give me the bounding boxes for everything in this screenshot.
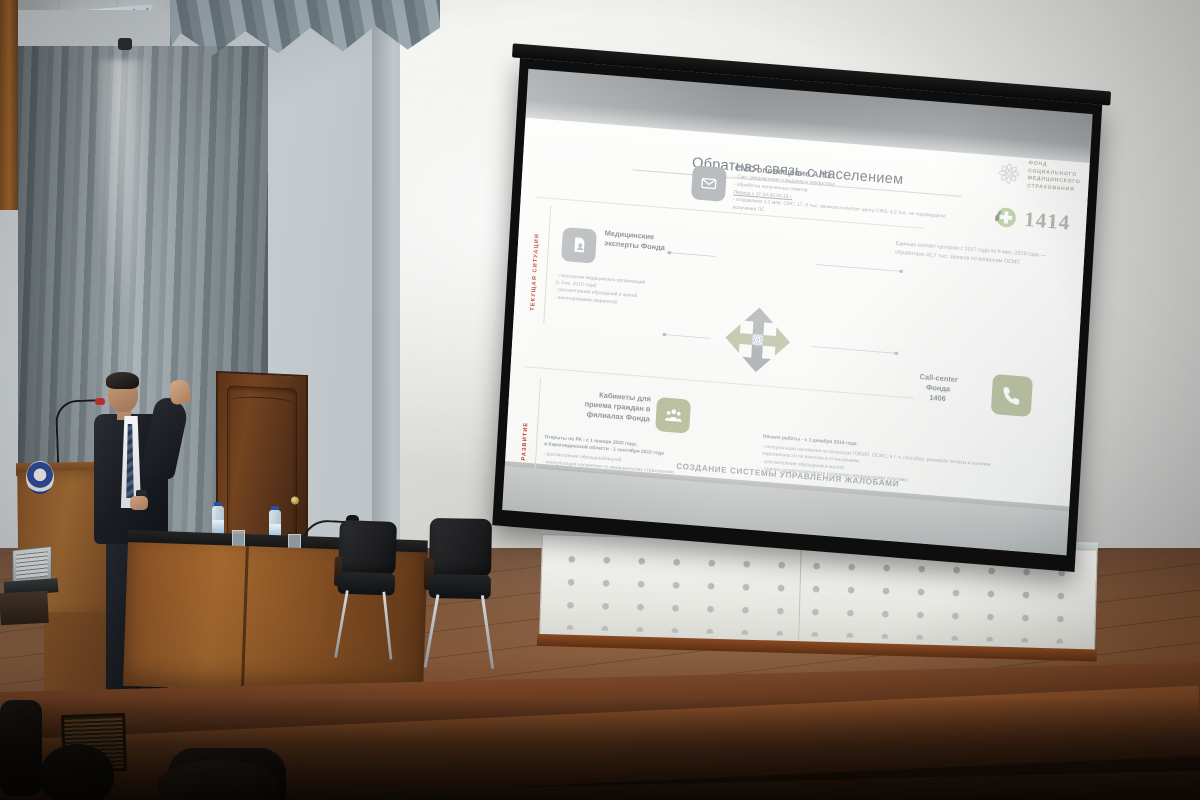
section-rule-current [543,205,551,323]
recycle-arrows-icon [710,291,805,388]
people-group-icon [655,397,691,434]
cabinets-heading: Кабинеты для приема граждан в филиалах Ф… [546,386,651,424]
chair-back [429,518,492,577]
door-panel [227,385,297,547]
presentation-slide: ФОНД СОЦИАЛЬНОГО МЕДИЦИНСКОГО СТРАХОВАНИ… [505,117,1090,507]
telephone-handset-icon [991,374,1033,417]
chair-back [338,520,397,575]
chair-legs [427,594,490,669]
presenter-raised-hand [168,379,191,406]
experts-block: Медицинские эксперты Фонда [604,228,725,258]
callcenter-block: Call-center Фонда 1406 [891,369,985,406]
podium-emblem-icon [26,461,54,494]
presenter-hand [130,496,148,510]
flower-logo-icon [994,159,1024,189]
experts-bullets: - посещение медицинских организаций (с 4… [555,272,721,315]
screen-surface: ФОНД СОЦИАЛЬНОГО МЕДИЦИНСКОГО СТРАХОВАНИ… [502,69,1093,556]
cabinets-block: Кабинеты для приема граждан в филиалах Ф… [546,386,651,424]
section-label-current: ТЕКУЩАЯ СИТУАЦИЯ [530,214,542,310]
envelope-icon [691,165,727,202]
wood-trim [0,0,18,210]
fund-logo: ФОНД СОЦИАЛЬНОГО МЕДИЦИНСКОГО СТРАХОВАНИ… [994,157,1082,195]
wall-spot-lamp [118,38,132,50]
wooden-door[interactable] [216,371,308,560]
presenter-raised-arm [140,395,190,480]
foreground-shadow [0,700,1200,800]
door-knob-icon[interactable] [291,496,299,504]
hotline-caption-block: Единым контакт-центром с 2017 года по 6 … [895,239,1071,271]
av-equipment-box [0,591,49,625]
table-panel-seam [241,546,249,690]
experts-heading: Медицинские эксперты Фонда [604,228,725,258]
conference-hall-photo: ФОНД СОЦИАЛЬНОГО МЕДИЦИНСКОГО СТРАХОВАНИ… [0,0,1200,800]
drinking-glass[interactable] [232,530,245,547]
wall-corner [372,0,394,560]
hotline-number: 1414 [1024,207,1071,236]
bottle-label [212,520,224,533]
chair-legs [335,590,394,660]
hotline-1414: 1414 [989,201,1071,242]
fund-logo-text: ФОНД СОЦИАЛЬНОГО МЕДИЦИНСКОГО СТРАХОВАНИ… [1027,160,1082,196]
curtain-light-glow [92,60,152,320]
projection-screen[interactable]: ФОНД СОЦИАЛЬНОГО МЕДИЦИНСКОГО СТРАХОВАНИ… [492,58,1102,572]
presenter-hair [106,372,139,389]
medical-cross-headset-icon [989,201,1021,238]
hotline-caption: Единым контакт-центром с 2017 года по 6 … [895,239,1071,271]
document-person-icon [561,227,597,264]
